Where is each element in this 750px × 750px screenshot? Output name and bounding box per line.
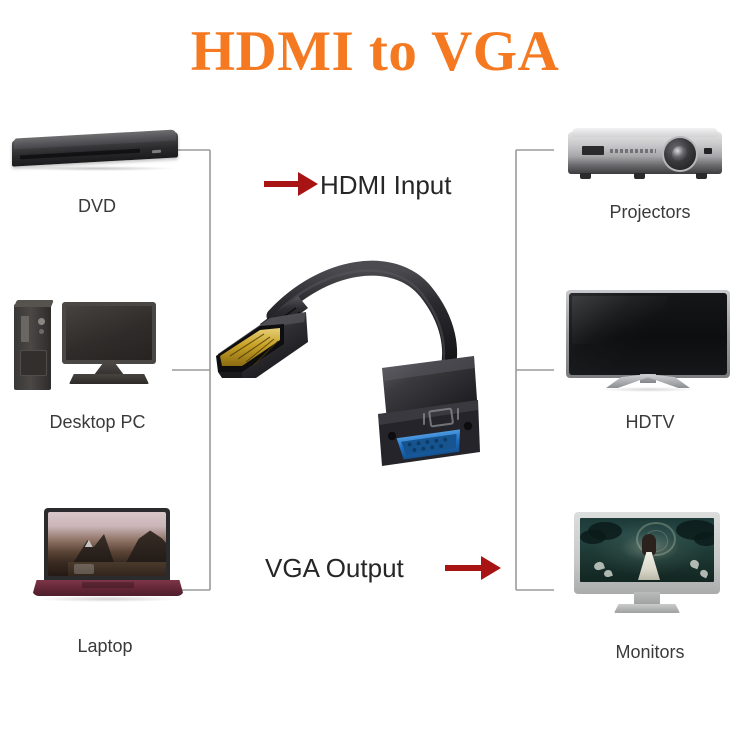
wallpaper-foliage xyxy=(580,530,606,544)
projector-brand-badge xyxy=(582,146,604,155)
projector-foot xyxy=(580,173,591,179)
pc-optical-drive xyxy=(21,316,29,342)
laptop-screen xyxy=(48,512,166,576)
laptop-icon xyxy=(28,508,188,608)
infographic-canvas: HDMI to VGA DVD xyxy=(0,0,750,750)
device-label-projectors: Projectors xyxy=(560,202,740,223)
pc-front-panel xyxy=(20,350,47,376)
callout-hdmi-input-label: HDMI Input xyxy=(320,170,452,201)
callout-vga-output-label: VGA Output xyxy=(265,553,404,584)
device-label-monitors: Monitors xyxy=(560,642,740,663)
projector-foot xyxy=(696,173,707,179)
tv-screen-glare xyxy=(572,296,667,344)
laptop-touchpad xyxy=(82,582,134,588)
hdmi-to-vga-adapter xyxy=(212,238,482,493)
wallpaper-figure-dress xyxy=(638,552,660,580)
pc-monitor-screen xyxy=(66,306,152,360)
television-icon xyxy=(566,290,734,394)
wallpaper-butterfly xyxy=(689,559,700,570)
wallpaper-butterfly xyxy=(699,569,709,579)
desktop-computer-icon xyxy=(12,296,177,392)
monitor-screen xyxy=(580,518,714,582)
laptop-taskbar xyxy=(74,564,94,574)
projector-icon xyxy=(568,126,728,188)
pc-tower xyxy=(14,304,51,390)
device-label-desktop-pc: Desktop PC xyxy=(5,412,190,433)
page-title: HDMI to VGA xyxy=(0,22,750,82)
monitor-stand-neck xyxy=(634,592,660,606)
laptop-shadow xyxy=(38,596,178,602)
wallpaper-foliage xyxy=(694,532,714,546)
projector-model-text xyxy=(610,149,656,153)
dvd-display xyxy=(152,150,161,154)
pc-power-button xyxy=(38,318,45,325)
wallpaper-butterfly xyxy=(593,561,605,572)
monitor-stand-base xyxy=(614,604,680,613)
projector-ir-sensor xyxy=(704,148,712,154)
vga-screw-hole xyxy=(388,432,396,440)
vga-output-arrow xyxy=(445,552,503,584)
projector-lens xyxy=(672,146,688,162)
wallpaper-butterfly xyxy=(603,569,613,578)
pc-tower-top xyxy=(14,300,54,307)
vga-screw-hole xyxy=(464,422,472,430)
device-label-dvd: DVD xyxy=(12,196,182,217)
pc-monitor-neck xyxy=(94,363,124,375)
device-label-hdtv: HDTV xyxy=(560,412,740,433)
output-bracket xyxy=(508,140,558,600)
dvd-player-icon xyxy=(12,130,182,176)
projector-foot xyxy=(634,173,645,179)
monitor-icon xyxy=(574,512,726,620)
hdmi-male-plug xyxy=(216,312,308,378)
hdmi-input-arrow xyxy=(264,168,320,200)
device-label-laptop: Laptop xyxy=(20,636,190,657)
pc-indicator-led xyxy=(39,329,44,334)
dvd-shadow xyxy=(18,166,174,171)
projector-top-panel xyxy=(572,128,718,137)
pc-monitor-base xyxy=(69,374,149,384)
